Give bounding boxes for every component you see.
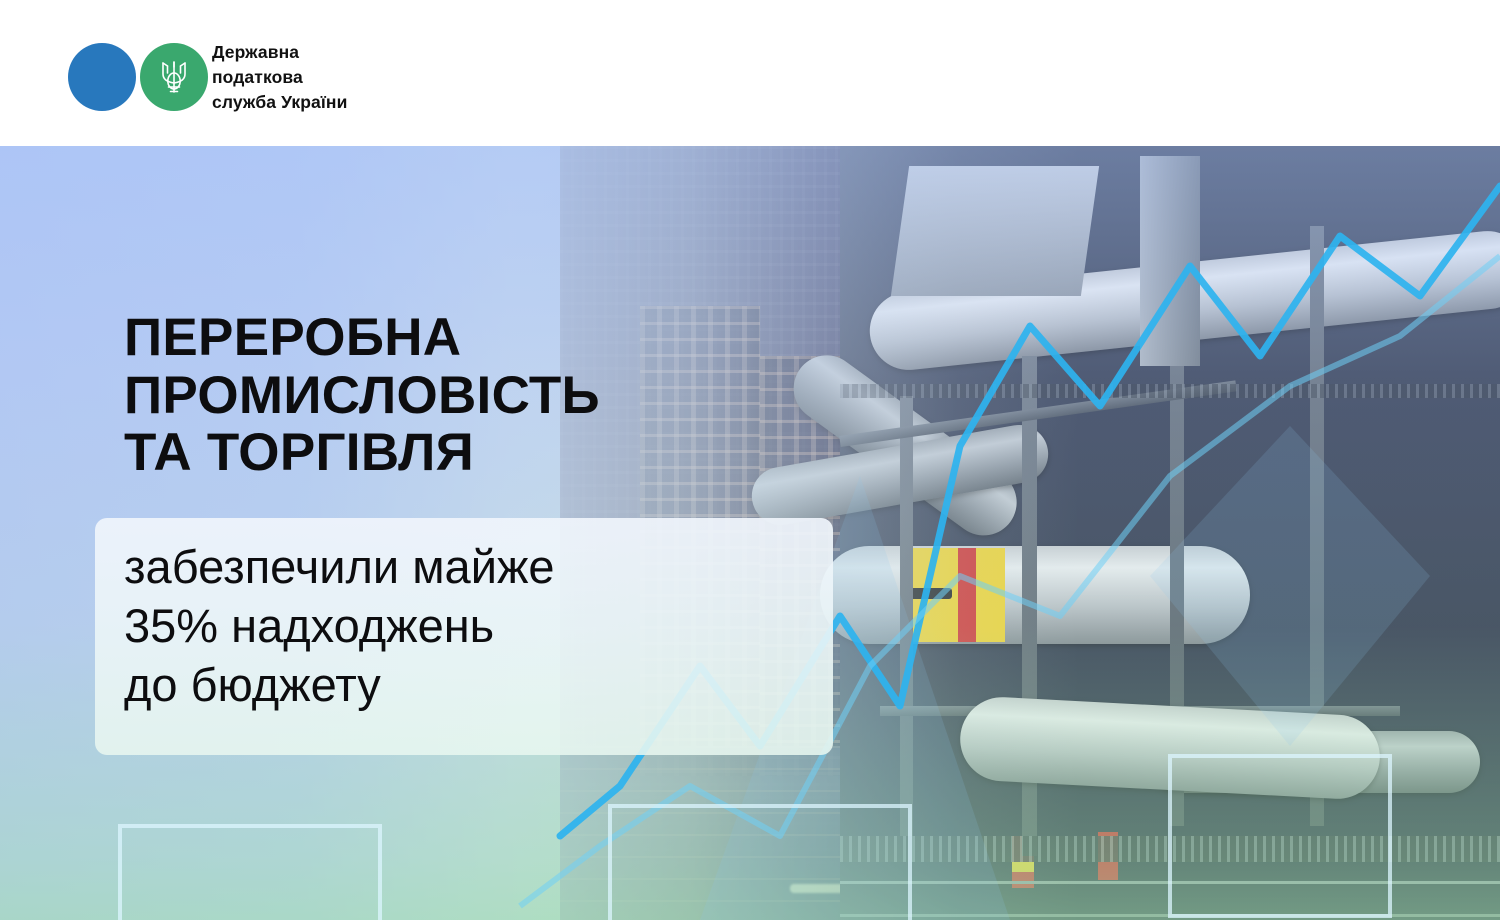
- ukrainian-trident-icon: [159, 58, 189, 96]
- logo-marks: [68, 41, 206, 113]
- logo-green-circle-icon: [140, 43, 208, 111]
- page-title: ПЕРЕРОБНА ПРОМИСЛОВІСТЬ ТА ТОРГІВЛЯ: [124, 309, 824, 482]
- hero-canvas: ПЕРЕРОБНА ПРОМИСЛОВІСТЬ ТА ТОРГІВЛЯ забе…: [0, 146, 1500, 920]
- subtitle-text: забезпечили майже 35% надходжень до бюдж…: [124, 537, 824, 715]
- organization-name: Державна податкова служба України: [212, 40, 347, 115]
- organization-logo[interactable]: Державна податкова служба України: [68, 40, 347, 115]
- logo-blue-circle-icon: [68, 43, 136, 111]
- header-bar: Державна податкова служба України: [0, 0, 1500, 146]
- poster-root: Державна податкова служба України: [0, 0, 1500, 920]
